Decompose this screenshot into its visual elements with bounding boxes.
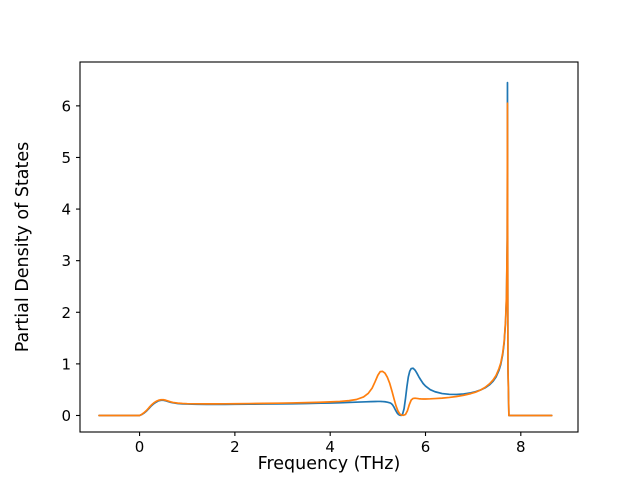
y-tick-label: 2 — [61, 304, 71, 322]
y-tick-label: 1 — [61, 355, 71, 373]
y-tick-label: 3 — [61, 252, 71, 270]
plot-area: 02468 0123456 — [61, 62, 578, 456]
y-tick-label: 0 — [61, 407, 71, 425]
figure-canvas: 02468 0123456 Frequency (THz) Partial De… — [0, 0, 640, 480]
x-axis-title: Frequency (THz) — [258, 454, 401, 474]
x-tick-label: 2 — [230, 438, 240, 456]
plot-background — [80, 62, 578, 432]
y-axis-ticks: 0123456 — [61, 97, 80, 425]
x-tick-label: 8 — [516, 438, 526, 456]
y-tick-label: 6 — [61, 97, 71, 115]
pdos-line-chart: 02468 0123456 Frequency (THz) Partial De… — [0, 0, 640, 480]
y-tick-label: 4 — [61, 201, 71, 219]
y-axis-title: Partial Density of States — [13, 142, 33, 353]
x-tick-label: 0 — [135, 438, 145, 456]
y-tick-label: 5 — [61, 149, 71, 167]
x-tick-label: 6 — [421, 438, 431, 456]
x-axis-ticks: 02468 — [135, 432, 526, 456]
